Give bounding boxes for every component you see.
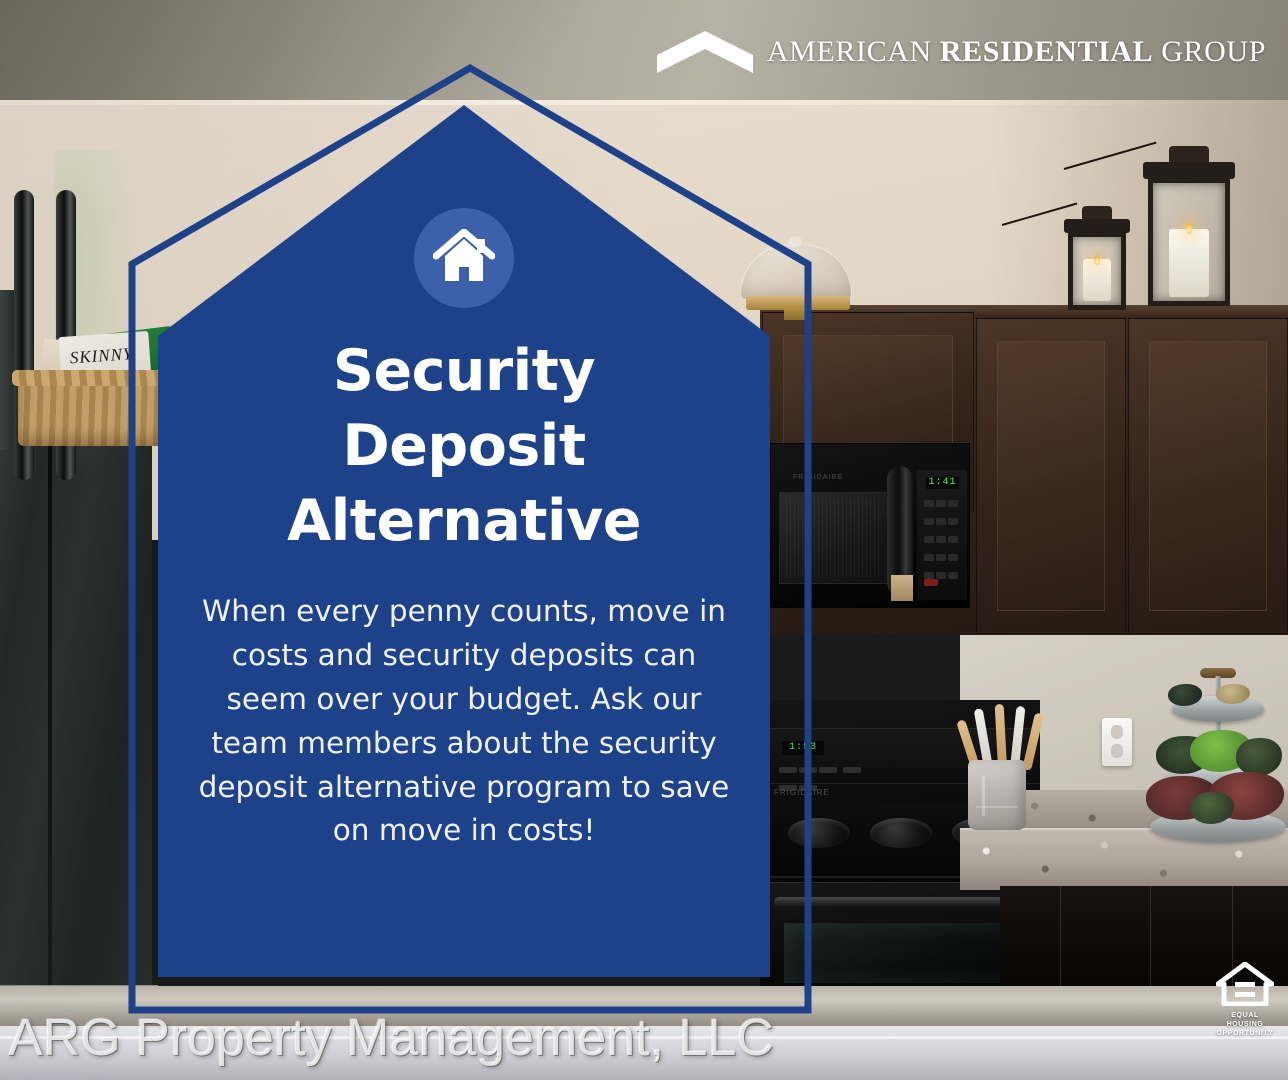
cake-pedestal-stem (784, 308, 810, 320)
headline-line-2: Deposit (287, 409, 641, 484)
cake-dome-knob (788, 236, 802, 248)
brand-name-part3: GROUP (1161, 35, 1266, 68)
lantern-knob (1082, 206, 1112, 220)
oven-window (784, 923, 1016, 983)
microwave: FRIGIDAIRE 1:41 (770, 443, 970, 608)
cabinet-door (976, 318, 1126, 634)
brand-header: AMERICAN RESIDENTIAL GROUP (0, 22, 1288, 82)
equal-housing-text: EQUAL HOUSING OPPORTUNITY (1213, 1012, 1277, 1039)
headline-line-1: Security (287, 334, 641, 409)
microwave-clock-display: 1:41 (926, 477, 959, 489)
headline-line-3: Alternative (287, 484, 641, 559)
candle (1083, 259, 1111, 301)
burner-knob (788, 818, 850, 848)
microwave-control-panel: 1:41 (917, 470, 967, 600)
body-paragraph: When every penny counts, move in costs a… (191, 590, 737, 854)
microwave-stop-button (924, 579, 938, 586)
burner-knob (870, 818, 932, 848)
lantern-large (1148, 178, 1230, 306)
chevron-roof-mark-icon (657, 27, 753, 77)
oven-door (760, 882, 1040, 1000)
microwave-keypad (923, 496, 963, 586)
microwave-window (779, 492, 889, 584)
range-clock-display: 1:53 (782, 741, 824, 755)
range-brand-label: FRIGIDAIRE (774, 788, 830, 797)
house-icon (433, 229, 495, 287)
equal-housing-house-icon (1216, 962, 1274, 1006)
lantern-small (1068, 232, 1126, 310)
eho-line-1: EQUAL HOUSING (1213, 1012, 1277, 1030)
candle-flame (1094, 254, 1100, 265)
brand-name-part1: AMERICAN (767, 35, 932, 68)
cabinet-door (1128, 318, 1288, 634)
brand-name-part2: RESIDENTIAL (940, 35, 1153, 68)
brand-name: AMERICAN RESIDENTIAL GROUP (767, 35, 1266, 69)
snack-bag-label: SKINNY (69, 344, 134, 368)
candle (1169, 229, 1209, 297)
refrigerator (0, 432, 152, 1002)
candle-flame (1186, 221, 1193, 234)
marketing-poster: FRIGIDAIRE 1:41 1:53 (0, 0, 1288, 1080)
oven-handle (774, 897, 1026, 907)
equal-housing-opportunity-logo: EQUAL HOUSING OPPORTUNITY (1213, 962, 1277, 1034)
utensil-crock (968, 760, 1026, 830)
produce-greens (1236, 738, 1282, 776)
wall-outlet (1102, 718, 1132, 766)
eho-line-2: OPPORTUNITY (1213, 1030, 1277, 1039)
lantern-cap (1064, 219, 1130, 233)
house-icon-badge (414, 208, 514, 308)
woven-basket (18, 378, 164, 446)
microwave-brand-label: FRIGIDAIRE (793, 474, 843, 481)
page-title: Security Deposit Alternative (287, 334, 641, 560)
appliance-sticker (891, 575, 913, 601)
tiered-tray (1150, 668, 1286, 838)
lantern-cap (1143, 162, 1235, 179)
watermark-caption: ARG Property Management, LLC (8, 1008, 774, 1068)
